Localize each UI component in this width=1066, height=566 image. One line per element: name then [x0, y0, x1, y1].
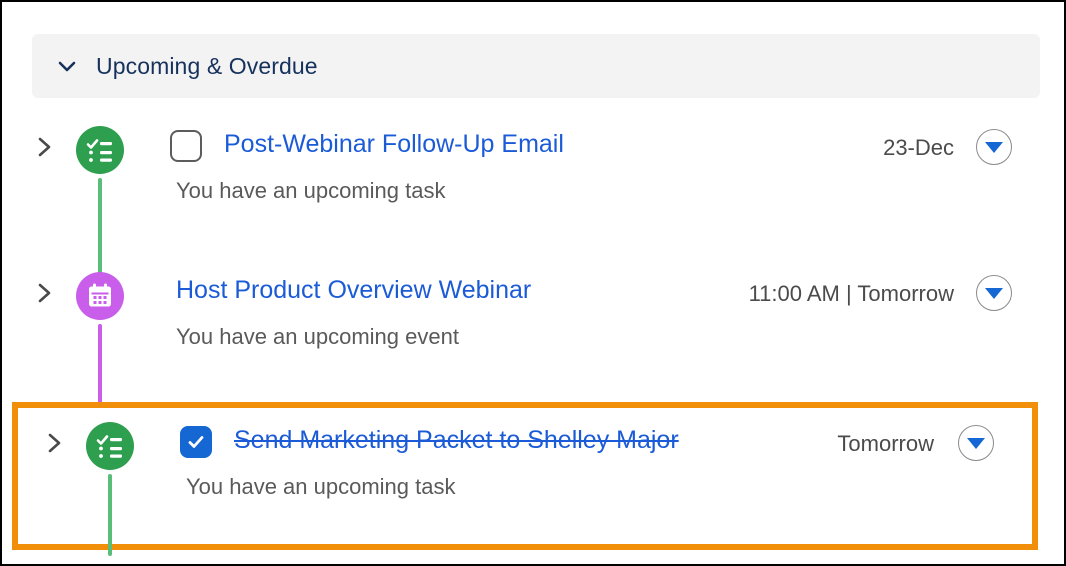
activity-subtitle: You have an upcoming event: [176, 324, 459, 350]
activity-title-link[interactable]: Host Product Overview Webinar: [176, 276, 531, 305]
activity-date: Tomorrow: [837, 431, 934, 457]
activity-subtitle: You have an upcoming task: [176, 178, 446, 204]
task-checklist-icon: [86, 422, 134, 470]
caret-down-circle-icon[interactable]: [976, 275, 1012, 311]
chevron-down-icon[interactable]: [54, 53, 80, 79]
activity-title-link[interactable]: Send Marketing Packet to Shelley Major: [234, 426, 679, 455]
chevron-right-icon[interactable]: [42, 428, 68, 458]
activity-date: 11:00 AM | Tomorrow: [749, 281, 954, 307]
caret-down-circle-icon[interactable]: [976, 129, 1012, 165]
activity-row-task-post-webinar[interactable]: Post-Webinar Follow-Up Email You have an…: [2, 110, 1064, 256]
activity-row-event-host-webinar[interactable]: Host Product Overview Webinar You have a…: [2, 256, 1064, 402]
caret-down-circle-icon[interactable]: [958, 425, 994, 461]
checkbox-unchecked-icon[interactable]: [170, 130, 202, 162]
activity-timeline-panel: Upcoming & Overdue: [0, 0, 1066, 566]
checkbox-checked-icon[interactable]: [180, 426, 212, 458]
chevron-right-icon[interactable]: [32, 278, 58, 308]
section-title: Upcoming & Overdue: [96, 53, 318, 80]
activity-date: 23-Dec: [883, 135, 954, 161]
activity-row-task-send-marketing-packet[interactable]: Send Marketing Packet to Shelley Major Y…: [12, 402, 1038, 550]
activity-subtitle: You have an upcoming task: [186, 474, 456, 500]
calendar-event-icon: [76, 272, 124, 320]
section-header-upcoming-overdue[interactable]: Upcoming & Overdue: [32, 34, 1040, 98]
activity-title-link[interactable]: Post-Webinar Follow-Up Email: [224, 130, 564, 159]
timeline-connector: [108, 474, 112, 556]
activity-list: Post-Webinar Follow-Up Email You have an…: [2, 110, 1064, 550]
task-checklist-icon: [76, 126, 124, 174]
chevron-right-icon[interactable]: [32, 132, 58, 162]
